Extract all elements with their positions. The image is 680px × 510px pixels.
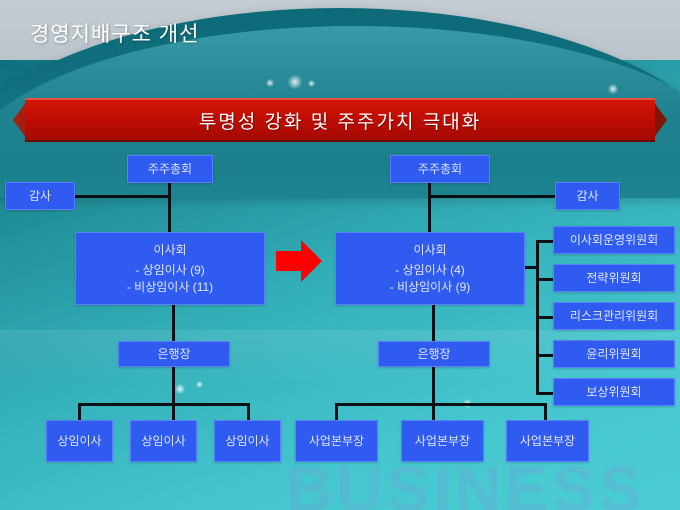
node-right-president[interactable]: 은행장 (378, 341, 490, 367)
node-standing-directors: - 상임이사 (9) (135, 262, 205, 278)
node-label: 윤리위원회 (586, 346, 641, 362)
node-committee-board-operations[interactable]: 이사회운영위원회 (553, 226, 675, 254)
node-division-head-2[interactable]: 사업본부장 (401, 420, 484, 462)
connector-left-drop-1 (78, 403, 81, 421)
node-right-shareholders-meeting[interactable]: 주주총회 (390, 155, 490, 183)
connector-left-auditor (75, 195, 170, 198)
connector-right-bus (335, 403, 547, 406)
node-left-executive-3[interactable]: 상임이사 (214, 420, 281, 462)
banner-body: 투명성 강화 및 주주가치 극대화 (25, 98, 655, 142)
node-left-auditor[interactable]: 감사 (5, 182, 75, 210)
node-label: 주주총회 (418, 161, 462, 177)
connector-left-drop-3 (247, 403, 250, 421)
arrow-right-icon (276, 240, 322, 282)
node-title: 이사회 (413, 242, 446, 258)
connector-right-board-to-president (432, 305, 435, 341)
presentation-slide: BUSINESS 경영지배구조 개선 투명성 강화 및 주주가치 극대화 주주총… (0, 0, 680, 510)
banner-text: 투명성 강화 및 주주가치 극대화 (199, 107, 481, 134)
node-right-board[interactable]: 이사회 - 상임이사 (4) - 비상임이사 (9) (335, 232, 525, 305)
connector-committee-branch-2 (536, 278, 554, 281)
page-title: 경영지배구조 개선 (30, 18, 199, 48)
node-label: 상임이사 (141, 433, 185, 449)
connector-right-president-down (432, 367, 435, 420)
node-label: 은행장 (417, 346, 450, 362)
node-label: 상임이사 (57, 433, 101, 449)
node-label: 보상위원회 (586, 384, 641, 400)
connector-left-bus (78, 403, 250, 406)
node-label: 이사회운영위원회 (570, 232, 658, 248)
connector-left-sm-to-board (168, 183, 171, 232)
node-non-standing-directors: - 비상임이사 (9) (390, 279, 471, 295)
node-label: 감사 (29, 188, 51, 204)
node-non-standing-directors: - 비상임이사 (11) (127, 279, 213, 295)
connector-left-president-down (172, 367, 175, 420)
connector-committee-branch-5 (536, 392, 554, 395)
connector-right-auditor (430, 195, 555, 198)
node-label: 감사 (576, 188, 598, 204)
connector-right-sm-to-board (428, 183, 431, 232)
node-label: 주주총회 (148, 161, 192, 177)
node-left-board[interactable]: 이사회 - 상임이사 (9) - 비상임이사 (11) (75, 232, 265, 305)
connector-right-drop-1 (335, 403, 338, 421)
node-label: 은행장 (157, 346, 190, 362)
node-label: 상임이사 (225, 433, 269, 449)
node-left-executive-2[interactable]: 상임이사 (130, 420, 197, 462)
node-left-executive-1[interactable]: 상임이사 (46, 420, 113, 462)
node-title: 이사회 (153, 242, 186, 258)
node-division-head-3[interactable]: 사업본부장 (506, 420, 589, 462)
connector-committee-branch-3 (536, 316, 554, 319)
connector-left-board-to-president (172, 305, 175, 341)
node-committee-compensation[interactable]: 보상위원회 (553, 378, 675, 406)
node-committee-ethics[interactable]: 윤리위원회 (553, 340, 675, 368)
node-label: 사업본부장 (415, 433, 470, 449)
node-label: 사업본부장 (309, 433, 364, 449)
node-right-auditor[interactable]: 감사 (555, 182, 620, 210)
node-left-shareholders-meeting[interactable]: 주주총회 (127, 155, 213, 183)
connector-committee-branch-1 (536, 240, 554, 243)
node-label: 전략위원회 (586, 270, 641, 286)
connector-committee-branch-4 (536, 354, 554, 357)
banner-right-cap (653, 101, 667, 139)
node-label: 사업본부장 (520, 433, 575, 449)
node-left-president[interactable]: 은행장 (118, 341, 230, 367)
node-label: 리스크관리위원회 (570, 308, 658, 324)
node-division-head-1[interactable]: 사업본부장 (295, 420, 378, 462)
transition-arrow (276, 240, 322, 282)
node-committee-strategy[interactable]: 전략위원회 (553, 264, 675, 292)
node-standing-directors: - 상임이사 (4) (395, 262, 465, 278)
node-committee-risk-management[interactable]: 리스크관리위원회 (553, 302, 675, 330)
connector-right-drop-3 (544, 403, 547, 421)
headline-banner: 투명성 강화 및 주주가치 극대화 (13, 98, 667, 142)
